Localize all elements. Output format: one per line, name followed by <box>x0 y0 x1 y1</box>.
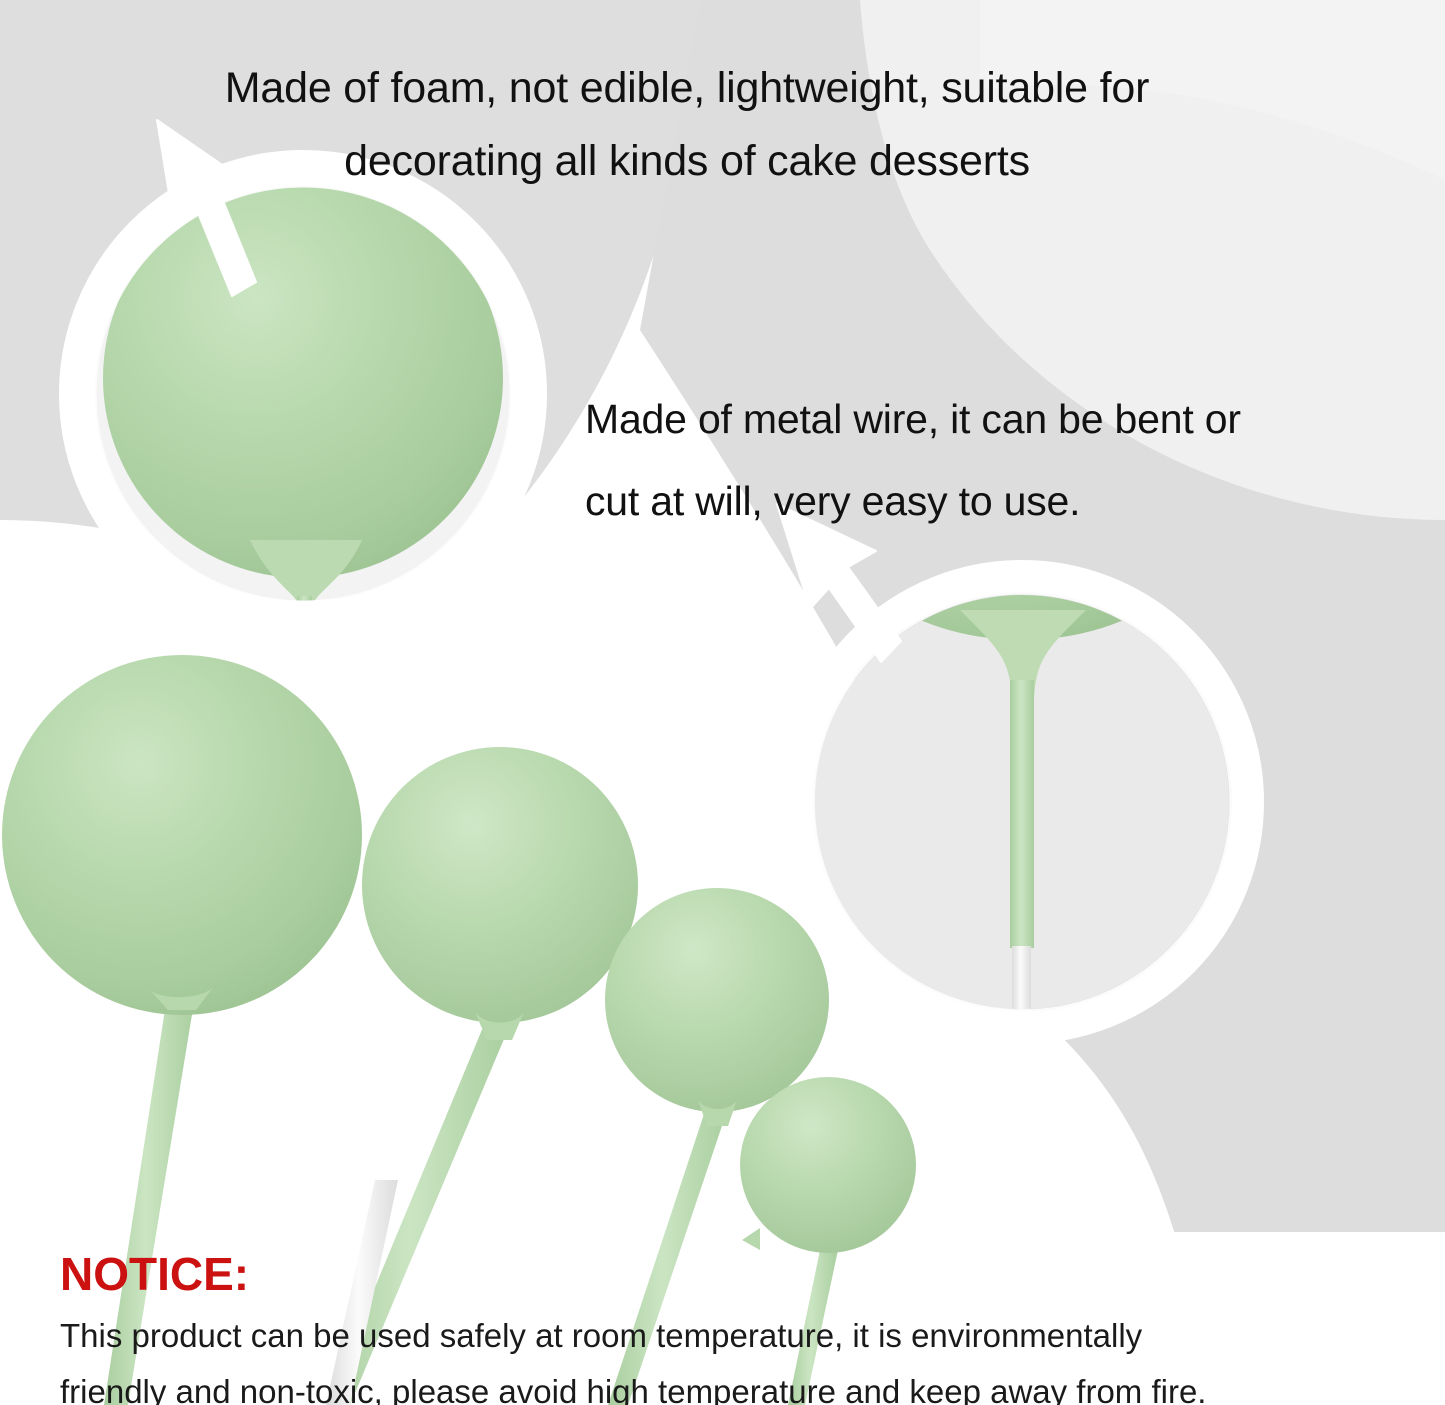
background <box>0 0 1445 1405</box>
callout-wire-line1: Made of metal wire, it can be bent or <box>585 396 1241 442</box>
notice-title: NOTICE: <box>60 1248 1420 1300</box>
callout-foam-line1: Made of foam, not edible, lightweight, s… <box>225 64 1149 112</box>
notice-line-1: This product can be used safely at room … <box>60 1308 1420 1364</box>
background-shapes <box>0 0 1445 1405</box>
callout-wire-text: Made of metal wire, it can be bent or cu… <box>585 378 1445 542</box>
callout-wire-line2: cut at will, very easy to use. <box>585 478 1080 524</box>
callout-foam-text: Made of foam, not edible, lightweight, s… <box>92 52 1282 198</box>
infographic-canvas: Made of foam, not edible, lightweight, s… <box>0 0 1445 1405</box>
callout-foam-line2: decorating all kinds of cake desserts <box>92 125 1282 198</box>
notice-body: This product can be used safely at room … <box>60 1308 1420 1405</box>
notice-block: NOTICE: This product can be used safely … <box>60 1248 1420 1405</box>
notice-line-2: friendly and non-toxic, please avoid hig… <box>60 1364 1420 1405</box>
